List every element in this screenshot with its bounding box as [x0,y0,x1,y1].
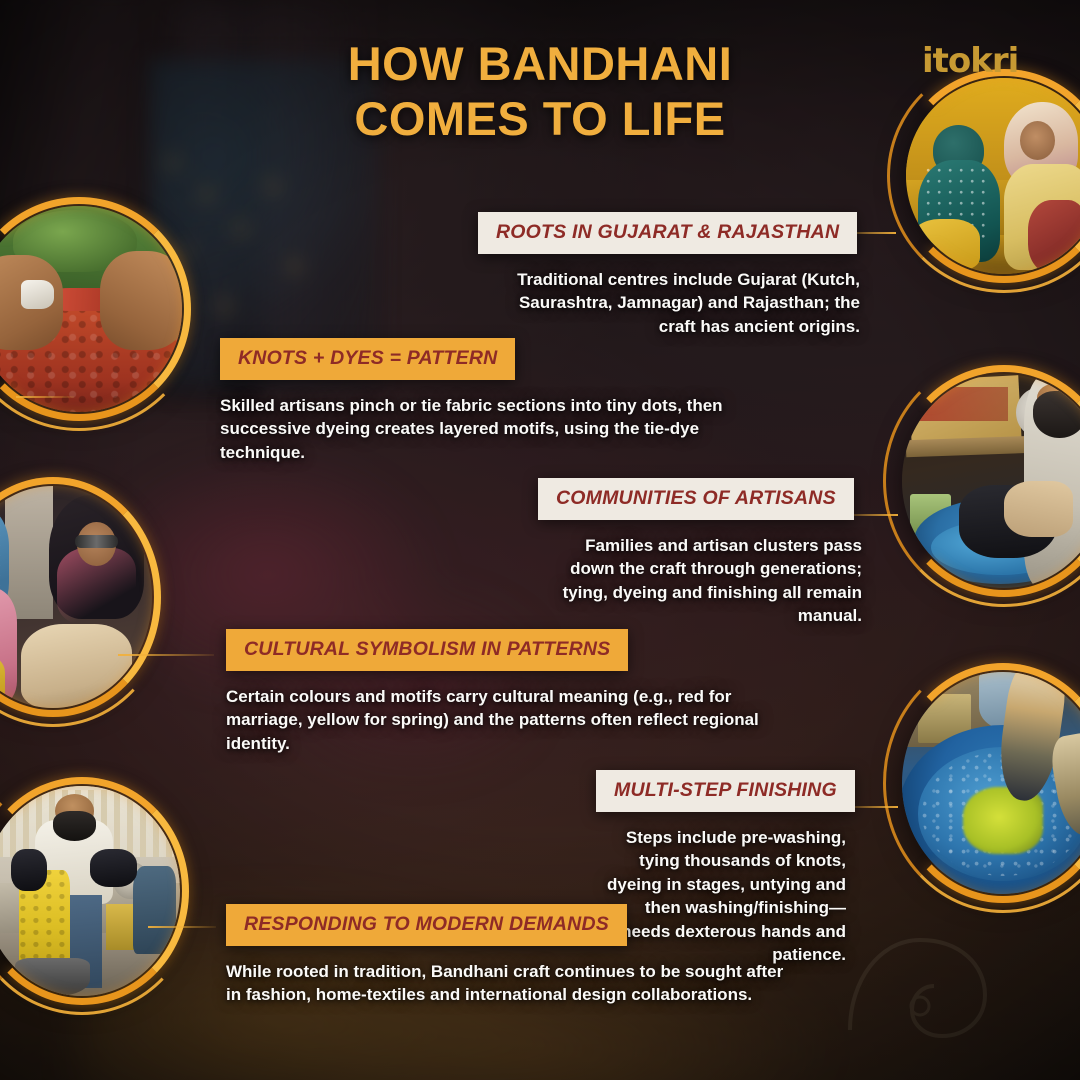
photo-frame-ring-2 [0,206,182,412]
section-cultural-symbolism-in-patterns: CULTURAL SYMBOLISM IN PATTERNS Certain c… [226,629,792,755]
section-heading-badge: RESPONDING TO MODERN DEMANDS [226,904,627,946]
section-communities-of-artisans: COMMUNITIES OF ARTISANS Families and art… [538,478,862,628]
section-body-text: While rooted in tradition, Bandhani craf… [226,960,792,1007]
page-title-line-2: COMES TO LIFE [0,91,1080,146]
section-roots-in-gujarat-rajasthan: ROOTS IN GUJARAT & RAJASTHAN Traditional… [478,212,860,338]
page-title: HOW BANDHANI COMES TO LIFE [0,36,1080,147]
brand-logo[interactable]: itokri [922,40,1042,82]
section-body-text: Families and artisan clusters pass down … [538,534,862,628]
section-heading-badge: MULTI-STEP FINISHING [596,770,855,812]
photo-frame-ring-6 [0,786,180,996]
photo-frame-ring-5 [902,672,1080,894]
section-heading-badge: ROOTS IN GUJARAT & RAJASTHAN [478,212,857,254]
photo-indigo-vat [902,672,1080,894]
section-body-text: Traditional centres include Gujarat (Kut… [478,268,860,338]
section-body-text: Certain colours and motifs carry cultura… [226,685,792,755]
section-heading-badge: COMMUNITIES OF ARTISANS [538,478,854,520]
brand-logo-text: itokri [922,40,1042,82]
connector-line-4 [118,654,214,656]
photo-hands-tying-red-cloth [0,206,182,412]
connector-line-2 [16,396,74,398]
section-heading-badge: CULTURAL SYMBOLISM IN PATTERNS [226,629,628,671]
photo-frame-ring-4 [902,374,1080,588]
photo-frame-ring-3 [0,486,152,708]
photo-dyeing-blue-tub [902,374,1080,588]
photo-artisan-woman-veil [0,486,152,708]
section-body-text: Skilled artisans pinch or tie fabric sec… [220,394,780,464]
section-knots-dyes-pattern: KNOTS + DYES = PATTERN Skilled artisans … [220,338,780,464]
page-title-line-1: HOW BANDHANI [0,36,1080,91]
connector-line-6 [148,926,216,928]
section-responding-to-modern-demands: RESPONDING TO MODERN DEMANDS While roote… [226,904,792,1007]
section-heading-badge: KNOTS + DYES = PATTERN [220,338,515,380]
photo-lifting-yellow-cloth [0,786,180,996]
